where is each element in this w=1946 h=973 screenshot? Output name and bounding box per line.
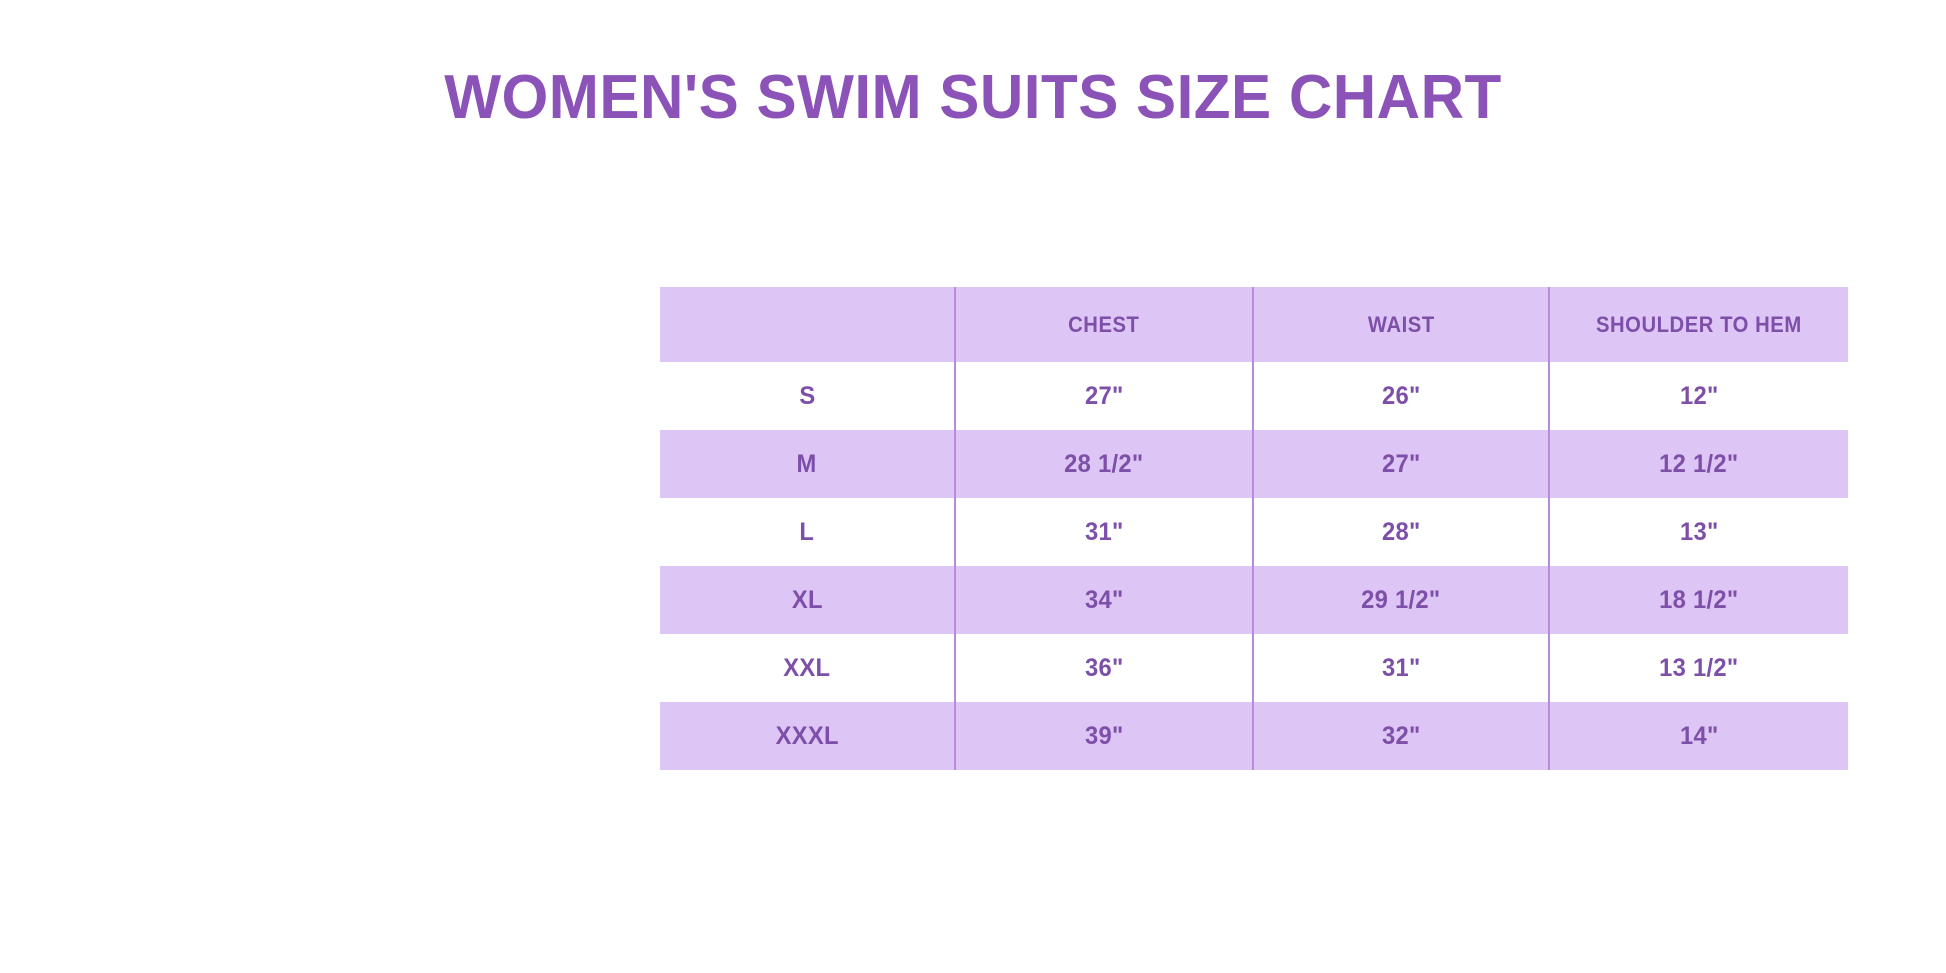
cell-waist: 31" <box>1253 634 1549 702</box>
column-header-waist: WAIST <box>1253 287 1549 362</box>
column-header-chest: CHEST <box>955 287 1253 362</box>
cell-size: M <box>660 430 955 498</box>
cell-waist: 28" <box>1253 498 1549 566</box>
cell-waist: 29 1/2" <box>1253 566 1549 634</box>
column-header-shoulder-to-hem: SHOULDER TO HEM <box>1549 287 1848 362</box>
table-row: XXXL 39" 32" 14" <box>660 702 1848 770</box>
table-row: XL 34" 29 1/2" 18 1/2" <box>660 566 1848 634</box>
page-title: WOMEN'S SWIM SUITS SIZE CHART <box>29 62 1917 133</box>
size-chart-page: WOMEN'S SWIM SUITS SIZE CHART CHEST WAIS… <box>0 0 1946 973</box>
cell-waist: 32" <box>1253 702 1549 770</box>
cell-chest: 28 1/2" <box>955 430 1253 498</box>
column-header-waist-label: WAIST <box>1368 312 1435 338</box>
column-header-chest-label: CHEST <box>1068 312 1139 338</box>
cell-waist: 26" <box>1253 362 1549 430</box>
table-row: M 28 1/2" 27" 12 1/2" <box>660 430 1848 498</box>
table-header-row: CHEST WAIST SHOULDER TO HEM <box>660 287 1848 362</box>
cell-size: S <box>660 362 955 430</box>
cell-shoulder-to-hem: 12" <box>1549 362 1848 430</box>
cell-chest: 36" <box>955 634 1253 702</box>
cell-shoulder-to-hem: 13" <box>1549 498 1848 566</box>
table-row: L 31" 28" 13" <box>660 498 1848 566</box>
column-header-size <box>660 287 955 362</box>
cell-shoulder-to-hem: 13 1/2" <box>1549 634 1848 702</box>
table-row: S 27" 26" 12" <box>660 362 1848 430</box>
cell-size: XXL <box>660 634 955 702</box>
table-body: S 27" 26" 12" M 28 1/2" 27" 12 1/2" L 31… <box>660 362 1848 770</box>
cell-chest: 39" <box>955 702 1253 770</box>
size-chart-table: CHEST WAIST SHOULDER TO HEM S 27" 26" 12… <box>660 287 1848 770</box>
column-header-shoulder-to-hem-label: SHOULDER TO HEM <box>1596 312 1802 338</box>
table-row: XXL 36" 31" 13 1/2" <box>660 634 1848 702</box>
cell-shoulder-to-hem: 12 1/2" <box>1549 430 1848 498</box>
cell-size: L <box>660 498 955 566</box>
cell-chest: 27" <box>955 362 1253 430</box>
cell-waist: 27" <box>1253 430 1549 498</box>
cell-chest: 31" <box>955 498 1253 566</box>
cell-shoulder-to-hem: 14" <box>1549 702 1848 770</box>
table-header: CHEST WAIST SHOULDER TO HEM <box>660 287 1848 362</box>
cell-chest: 34" <box>955 566 1253 634</box>
cell-size: XXXL <box>660 702 955 770</box>
cell-shoulder-to-hem: 18 1/2" <box>1549 566 1848 634</box>
cell-size: XL <box>660 566 955 634</box>
